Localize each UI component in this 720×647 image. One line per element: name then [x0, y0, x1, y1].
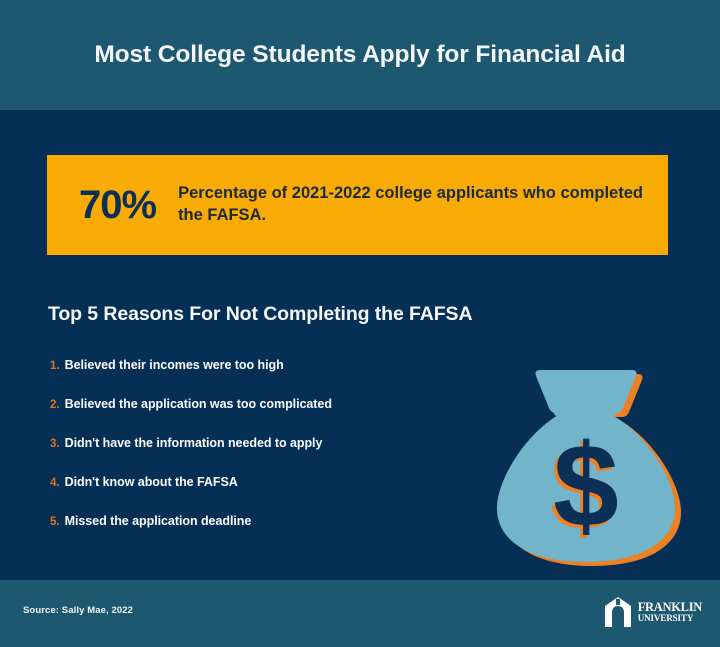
reasons-list: 1. Believed their incomes were too high …	[50, 358, 470, 553]
source-attribution: Source: Sally Mae, 2022	[23, 605, 133, 616]
list-item-label: Missed the application deadline	[65, 514, 252, 528]
list-item-label: Believed their incomes were too high	[65, 358, 284, 372]
list-item-number: 1.	[50, 360, 60, 372]
stat-callout-box: 70% Percentage of 2021-2022 college appl…	[47, 155, 668, 255]
list-item-number: 4.	[50, 477, 60, 489]
header-band: Most College Students Apply for Financia…	[0, 0, 720, 110]
franklin-university-logo[interactable]: FRANKLIN UNIVERSITY	[603, 596, 702, 628]
logo-wordmark: FRANKLIN UNIVERSITY	[638, 601, 702, 623]
list-item-number: 2.	[50, 399, 60, 411]
list-item-number: 5.	[50, 516, 60, 528]
list-item-label: Believed the application was too complic…	[65, 397, 332, 411]
list-item: 1. Believed their incomes were too high	[50, 358, 470, 397]
list-item-label: Didn't have the information needed to ap…	[65, 436, 323, 450]
list-item: 4. Didn't know about the FAFSA	[50, 475, 470, 514]
list-item-number: 3.	[50, 438, 60, 450]
reasons-heading: Top 5 Reasons For Not Completing the FAF…	[48, 303, 472, 326]
logo-line-university: UNIVERSITY	[638, 614, 702, 623]
list-item: 2. Believed the application was too comp…	[50, 397, 470, 436]
arch-building-icon	[603, 596, 633, 628]
list-item: 3. Didn't have the information needed to…	[50, 436, 470, 475]
list-item: 5. Missed the application deadline	[50, 514, 470, 553]
dollar-sign-glyph: $	[553, 420, 619, 552]
infographic-canvas: Most College Students Apply for Financia…	[0, 0, 720, 647]
stat-percentage-value: 70%	[79, 185, 156, 225]
page-title: Most College Students Apply for Financia…	[94, 41, 625, 69]
stat-description: Percentage of 2021-2022 college applican…	[178, 183, 648, 227]
list-item-label: Didn't know about the FAFSA	[65, 475, 238, 489]
money-bag-icon: $ $	[466, 358, 700, 580]
logo-line-franklin: FRANKLIN	[638, 601, 702, 614]
money-bag-knot	[536, 370, 637, 413]
